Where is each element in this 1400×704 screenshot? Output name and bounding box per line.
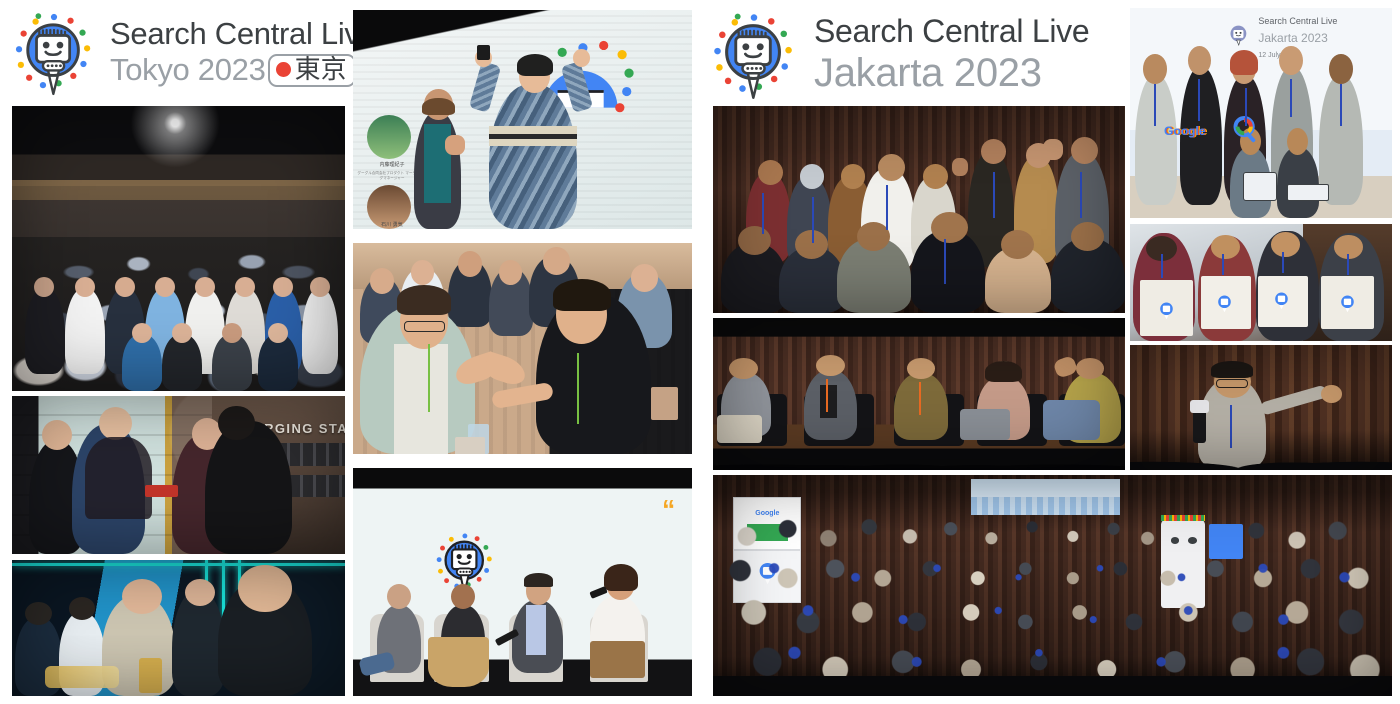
- poster-canvas: Search Central Live Tokyo 2023 東京: [0, 0, 1400, 704]
- tokyo-title-line-1: Search Central Live: [110, 16, 377, 52]
- jakarta-attendee-question-microphone: [1130, 345, 1392, 470]
- tokyo-japanese-badge: 東京: [268, 54, 356, 87]
- slide-quote-mark: “: [662, 500, 675, 518]
- slide-speaker-2-name: 石川 勇気: [360, 221, 424, 228]
- tokyo-header: Search Central Live Tokyo 2023 東京: [8, 8, 360, 96]
- jakarta-audience-waving: [713, 106, 1125, 313]
- jakarta-group-photo-backdrop: Search Central Live Jakarta 2023 12 July…: [1130, 8, 1392, 218]
- tokyo-audience-group-photo: [12, 106, 345, 391]
- jakarta-title-line-2: Jakarta 2023: [814, 50, 1089, 96]
- backdrop-title-line-1: Search Central Live: [1258, 16, 1337, 26]
- tokyo-yukata-speaker-on-stage: 内藤理紀子 グーグル合同会社プロダクト マーケティングマネージャー 石川 勇気: [353, 10, 692, 229]
- tokyo-charging-station-networking: CHARGING STATION: [12, 396, 345, 554]
- jakarta-panel-discussion-stage: [713, 318, 1125, 470]
- tokyo-japanese-label: 東京: [295, 57, 347, 83]
- google-word-prop: Google: [1164, 124, 1205, 138]
- tokyo-evening-reception-drinks: [12, 560, 345, 696]
- search-central-mascot-logo: [8, 6, 100, 98]
- jakarta-attendees-with-tote-bags: [1130, 224, 1392, 341]
- backdrop-title-line-2: Jakarta 2023: [1258, 31, 1327, 45]
- tokyo-attendees-heart-hands: [353, 243, 692, 454]
- jakarta-full-group-photo: Google: [713, 475, 1392, 696]
- tokyo-panel-discussion-stage: “: [353, 468, 692, 696]
- tokyo-title-line-2: Tokyo 2023: [110, 52, 266, 88]
- japan-flag-dot-icon: [276, 62, 291, 77]
- jakarta-title-line-1: Search Central Live: [814, 12, 1089, 50]
- jakarta-header: Search Central Live Jakarta 2023: [706, 6, 1126, 102]
- search-central-mascot-logo: [706, 6, 802, 102]
